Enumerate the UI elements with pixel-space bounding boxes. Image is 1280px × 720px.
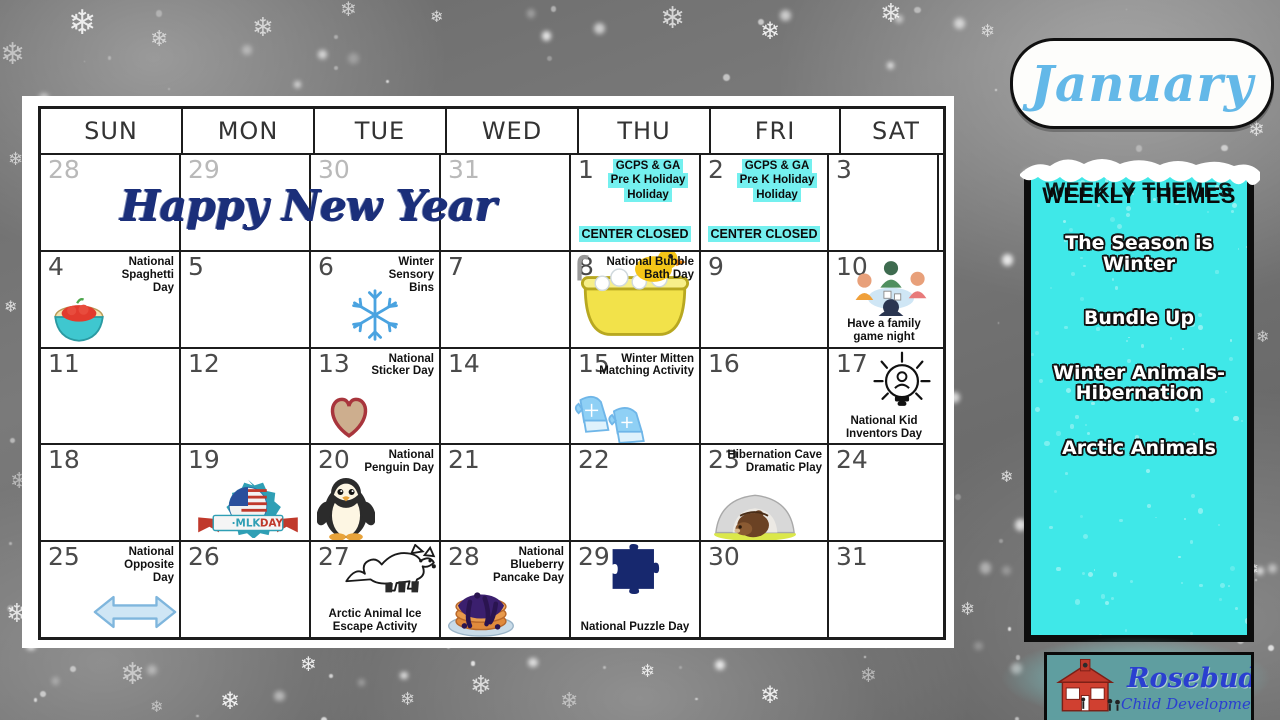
lightbulb-idea-icon — [871, 351, 933, 413]
day-of-week-sun: SUN — [41, 109, 183, 153]
calendar-day-cell-24[interactable]: 24 — [829, 445, 939, 540]
event-label: Have a family game night — [833, 318, 935, 344]
logo-name: Rosebud — [1127, 663, 1254, 694]
day-number: 9 — [708, 254, 724, 280]
day-number: 29 — [578, 544, 610, 570]
calendar-day-cell-15[interactable]: 15Winter Mitten Matching Activity — [571, 349, 701, 444]
calendar-week-row: 1819·MLK·DAY·20National Penguin Day21222… — [41, 443, 943, 540]
day-number: 17 — [836, 351, 868, 377]
event-label: National Kid Inventors Day — [833, 415, 935, 441]
calendar-day-cell-13[interactable]: 13National Sticker Day — [311, 349, 441, 444]
event-label: Winter Sensory Bins — [362, 256, 434, 295]
calendar-day-cell-9[interactable]: 9 — [701, 252, 829, 347]
day-of-week-header: SUNMONTUEWEDTHUFRISAT — [41, 109, 943, 153]
calendar-day-cell-17[interactable]: 17National Kid Inventors Day — [829, 349, 939, 444]
calendar-day-cell-4[interactable]: 4National Spaghetti Day — [41, 252, 181, 347]
center-closed-badge: CENTER CLOSED — [703, 226, 825, 242]
day-number: 14 — [448, 351, 480, 377]
calendar-day-cell-25[interactable]: 25National Opposite Day — [41, 542, 181, 637]
day-number: 26 — [188, 544, 220, 570]
weekly-theme-item: The Season is Winter — [1031, 233, 1247, 274]
day-number: 16 — [708, 351, 740, 377]
day-of-week-thu: THU — [579, 109, 711, 153]
weekly-theme-item: Arctic Animals — [1031, 438, 1247, 459]
spaghetti-bowl-icon — [47, 289, 111, 345]
calendar-day-cell-27[interactable]: 27Arctic Animal Ice Escape Activity — [311, 542, 441, 637]
calendar-day-cell-23[interactable]: 23Hibernation Cave Dramatic Play — [701, 445, 829, 540]
schoolhouse-icon — [1051, 657, 1127, 717]
center-closed-badge: CENTER CLOSED — [573, 226, 697, 242]
day-number: 24 — [836, 447, 868, 473]
calendar-day-cell-16[interactable]: 16 — [701, 349, 829, 444]
day-number: 25 — [48, 544, 80, 570]
calendar-week-row: 111213National Sticker Day1415Winter Mit… — [41, 347, 943, 444]
calendar-day-cell-5[interactable]: 5 — [181, 252, 311, 347]
calendar-day-cell-26[interactable]: 26 — [181, 542, 311, 637]
calendar-day-cell-21[interactable]: 21 — [441, 445, 571, 540]
arctic-fox-icon — [343, 544, 439, 598]
calendar-day-cell-14[interactable]: 14 — [441, 349, 571, 444]
calendar-card: SUNMONTUEWEDTHUFRISAT 282930311GCPS & GA… — [22, 96, 954, 648]
day-number: 28 — [48, 157, 80, 183]
family-game-night-icon — [845, 254, 937, 316]
day-number: 11 — [48, 351, 80, 377]
day-number: 1 — [578, 157, 594, 183]
calendar-poster: ❄❄❄❄❄❄❄❄❄❄❄❄❄❄❄❄❄❄❄❄❄❄❄❄❄❄❄❄❄ SUNMONTUEW… — [0, 0, 1280, 720]
calendar-day-cell-31[interactable]: 31 — [829, 542, 939, 637]
event-label: National Opposite Day — [102, 546, 174, 585]
event-label: National Bubble Bath Day — [598, 256, 694, 282]
event-label: Hibernation Cave Dramatic Play — [726, 449, 822, 475]
double-arrow-icon — [93, 593, 177, 631]
calendar-day-cell-22[interactable]: 22 — [571, 445, 701, 540]
calendar-day-cell-12[interactable]: 12 — [181, 349, 311, 444]
day-of-week-fri: FRI — [711, 109, 841, 153]
calendar-day-cell-1[interactable]: 1GCPS & GAPre K HolidayHolidayCENTER CLO… — [571, 155, 701, 250]
weekly-themes-panel: WEEKLY THEMES WEEKLY THEMES The Season i… — [1024, 170, 1254, 642]
day-number: 12 — [188, 351, 220, 377]
month-label: January — [1030, 54, 1254, 113]
logo-subtitle: Child Development Ce — [1121, 695, 1254, 713]
calendar-day-cell-29[interactable]: 29National Puzzle Day — [571, 542, 701, 637]
day-number: 7 — [448, 254, 464, 280]
day-of-week-tue: TUE — [315, 109, 447, 153]
calendar-day-cell-10[interactable]: 10Have a family game night — [829, 252, 939, 347]
weekly-theme-item: Winter Animals-Hibernation — [1031, 363, 1247, 404]
day-number: 20 — [318, 447, 350, 473]
calendar-day-cell-20[interactable]: 20National Penguin Day — [311, 445, 441, 540]
calendar-week-row: 25National Opposite Day2627Arctic Animal… — [41, 540, 943, 637]
day-of-week-sat: SAT — [841, 109, 951, 153]
calendar-day-cell-30[interactable]: 30 — [701, 542, 829, 637]
bear-cave-icon — [711, 486, 799, 540]
month-badge: January — [1010, 38, 1274, 129]
calendar-day-cell-19[interactable]: 19·MLK·DAY· — [181, 445, 311, 540]
calendar-day-cell-18[interactable]: 18 — [41, 445, 181, 540]
event-label: National Puzzle Day — [575, 621, 695, 634]
pancakes-icon — [445, 589, 517, 637]
mlk-day-badge-icon: ·MLK·DAY· — [195, 476, 301, 538]
holiday-note: GCPS & GAPre K HolidayHoliday — [601, 159, 695, 202]
event-label: National Blueberry Pancake Day — [468, 546, 564, 585]
day-number: 30 — [708, 544, 740, 570]
day-number: 3 — [836, 157, 852, 183]
day-number: 13 — [318, 351, 350, 377]
calendar-day-cell-6[interactable]: 6Winter Sensory Bins — [311, 252, 441, 347]
event-label: National Sticker Day — [362, 353, 434, 379]
day-number: 22 — [578, 447, 610, 473]
happy-new-year-banner: Happy New Year — [43, 181, 573, 230]
calendar-day-cell-11[interactable]: 11 — [41, 349, 181, 444]
weekly-theme-item: Bundle Up — [1031, 308, 1247, 329]
day-number: 30 — [318, 157, 350, 183]
snowflake-icon — [347, 287, 403, 343]
day-number: 31 — [836, 544, 868, 570]
svg-text:DAY·: DAY· — [260, 518, 287, 530]
day-number: 5 — [188, 254, 204, 280]
calendar-grid: SUNMONTUEWEDTHUFRISAT 282930311GCPS & GA… — [38, 106, 946, 640]
holiday-note: GCPS & GAPre K HolidayHoliday — [731, 159, 823, 202]
calendar-weeks: 282930311GCPS & GAPre K HolidayHolidayCE… — [41, 153, 943, 637]
day-number: 6 — [318, 254, 334, 280]
heart-sticker-icon — [323, 389, 375, 441]
day-number: 4 — [48, 254, 64, 280]
day-of-week-wed: WED — [447, 109, 579, 153]
calendar-day-cell-8[interactable]: 8left:2px;bottom:0px;width:84px;height:6… — [571, 252, 701, 347]
calendar-week-row: 282930311GCPS & GAPre K HolidayHolidayCE… — [41, 153, 943, 250]
event-label: National Spaghetti Day — [102, 256, 174, 295]
event-label: Arctic Animal Ice Escape Activity — [315, 608, 435, 634]
calendar-day-cell-2[interactable]: 2GCPS & GAPre K HolidayHolidayCENTER CLO… — [701, 155, 829, 250]
weekly-themes-title: WEEKLY THEMES WEEKLY THEMES — [1031, 183, 1247, 209]
puzzle-piece-icon — [609, 544, 661, 594]
penguin-icon — [317, 474, 375, 540]
calendar-week-row: 4National Spaghetti Day56Winter Sensory … — [41, 250, 943, 347]
day-of-week-mon: MON — [183, 109, 315, 153]
day-number: 29 — [188, 157, 220, 183]
day-number: 18 — [48, 447, 80, 473]
day-number: 21 — [448, 447, 480, 473]
day-number: 31 — [448, 157, 480, 183]
calendar-day-cell-3[interactable]: 3 — [829, 155, 939, 250]
mittens-icon — [573, 387, 653, 443]
calendar-day-cell-28[interactable]: 28National Blueberry Pancake Day — [441, 542, 571, 637]
day-number: 19 — [188, 447, 220, 473]
event-label: Winter Mitten Matching Activity — [598, 353, 694, 379]
event-label: National Penguin Day — [362, 449, 434, 475]
calendar-day-cell-7[interactable]: 7 — [441, 252, 571, 347]
weekly-themes-ghost-title: WEEKLY THEMES — [1031, 179, 1247, 203]
rosebud-logo: Rosebud Child Development Ce — [1044, 652, 1254, 720]
day-number: 2 — [708, 157, 724, 183]
